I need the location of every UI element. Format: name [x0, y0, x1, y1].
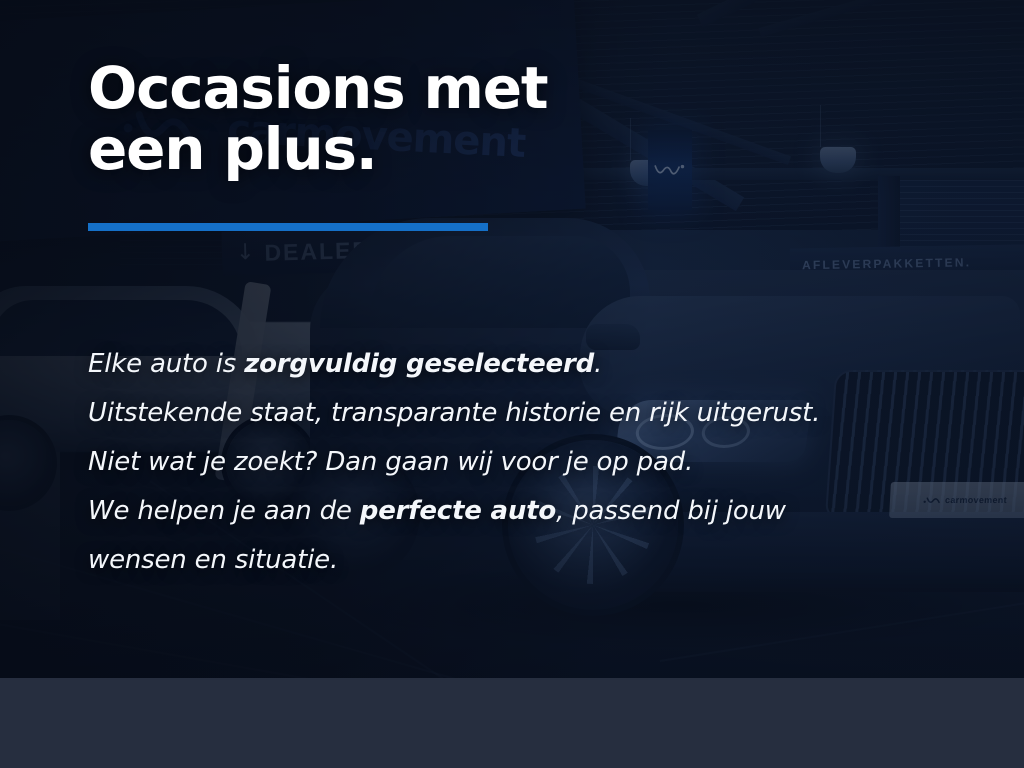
body-copy-text: We helpen je aan de	[88, 496, 360, 526]
body-copy-text: , passend bij jouw	[556, 496, 786, 526]
body-copy-text: Elke auto is	[88, 349, 244, 379]
promo-slide: carmovement ↓ DEALERO AFLEVERPAKKETTEN.	[0, 0, 1024, 768]
body-copy-text: wensen en situatie.	[88, 545, 338, 575]
accent-rule	[88, 223, 488, 231]
body-copy-text: .	[594, 349, 602, 379]
body-copy-line: wensen en situatie.	[88, 536, 918, 585]
body-copy-emphasis: zorgvuldig geselecteerd	[244, 349, 594, 379]
body-copy-line: Uitstekende staat, transparante historie…	[88, 389, 918, 438]
body-copy-line: Elke auto is zorgvuldig geselecteerd.	[88, 340, 918, 389]
body-copy-text: Niet wat je zoekt? Dan gaan wij voor je …	[88, 447, 693, 477]
body-copy-text: Uitstekende staat, transparante historie…	[88, 398, 820, 428]
body-copy-line: Niet wat je zoekt? Dan gaan wij voor je …	[88, 438, 918, 487]
footer-bar: Beter, in beweging.	[0, 678, 1024, 768]
body-copy: Elke auto is zorgvuldig geselecteerd.Uit…	[88, 340, 918, 585]
body-copy-emphasis: perfecte auto	[360, 496, 556, 526]
body-copy-line: We helpen je aan de perfecte auto, passe…	[88, 487, 918, 536]
page-title: Occasions met een plus.	[88, 58, 608, 181]
slide-content: Occasions met een plus. Elke auto is zor…	[0, 0, 1024, 768]
